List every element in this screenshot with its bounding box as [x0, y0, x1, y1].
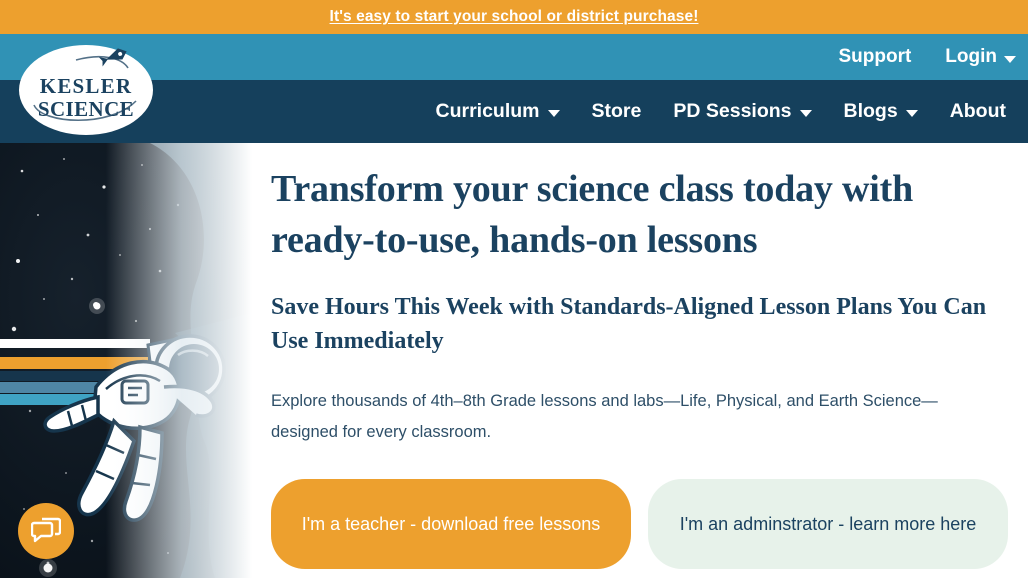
svg-text:KESLER: KESLER — [40, 74, 132, 98]
chevron-down-icon — [548, 110, 560, 117]
nav-item-label: Store — [592, 100, 642, 123]
main-nav: Curriculum Store PD Sessions Blogs About — [436, 80, 1017, 143]
utility-nav: Support Login — [838, 34, 1016, 80]
chevron-down-icon — [1004, 56, 1016, 63]
svg-text:SCIENCE: SCIENCE — [38, 97, 134, 121]
page-root: It's easy to start your school or distri… — [0, 0, 1028, 578]
administrator-learn-more-button[interactable]: I'm an adminstrator - learn more here — [648, 479, 1008, 569]
utility-item-login[interactable]: Login — [945, 46, 1016, 68]
nav-item-pd-sessions[interactable]: PD Sessions — [673, 100, 811, 123]
hero-cta-row: I'm a teacher - download free lessons I'… — [271, 479, 1016, 569]
promo-banner: It's easy to start your school or distri… — [0, 0, 1028, 34]
nav-item-curriculum[interactable]: Curriculum — [436, 100, 560, 123]
utility-bar: Support Login — [0, 34, 1028, 80]
chat-widget-button[interactable] — [18, 503, 74, 559]
chevron-down-icon — [906, 110, 918, 117]
nav-item-label: About — [950, 100, 1006, 123]
nav-item-about[interactable]: About — [950, 100, 1006, 123]
chevron-down-icon — [800, 110, 812, 117]
nav-item-store[interactable]: Store — [592, 100, 642, 123]
hero-subtitle: Save Hours This Week with Standards-Alig… — [271, 290, 1001, 358]
utility-item-label: Login — [945, 46, 997, 68]
hero-body-text: Explore thousands of 4th–8th Grade lesso… — [271, 386, 1003, 448]
nav-item-blogs[interactable]: Blogs — [844, 100, 918, 123]
teacher-download-button[interactable]: I'm a teacher - download free lessons — [271, 479, 631, 569]
site-logo[interactable]: KESLER SCIENCE — [18, 44, 154, 136]
utility-item-label: Support — [838, 46, 911, 68]
utility-item-support[interactable]: Support — [838, 46, 911, 68]
nav-item-label: Blogs — [844, 100, 898, 123]
hero-image — [0, 143, 252, 578]
main-nav-bar: Curriculum Store PD Sessions Blogs About — [0, 80, 1028, 143]
kesler-science-logo-icon: KESLER SCIENCE — [18, 44, 154, 136]
chat-bubbles-icon — [31, 517, 61, 545]
nav-item-label: Curriculum — [436, 100, 540, 123]
hero-content: Transform your science class today with … — [271, 143, 1016, 578]
promo-banner-link[interactable]: It's easy to start your school or distri… — [330, 8, 699, 26]
hero-title: Transform your science class today with … — [271, 164, 1013, 266]
nav-item-label: PD Sessions — [673, 100, 791, 123]
